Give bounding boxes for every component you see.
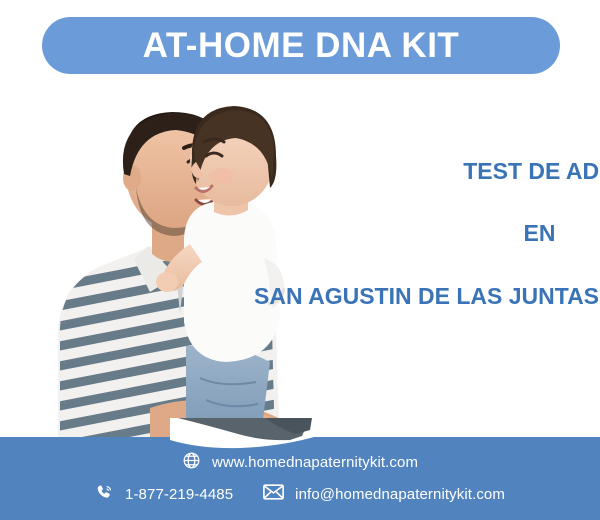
email-contact-item[interactable]: info@homednapaternitykit.com — [263, 484, 505, 505]
website-label: www.homednapaternitykit.com — [212, 454, 418, 471]
phone-contact-item[interactable]: 1-877-219-4485 — [95, 483, 233, 507]
headline-line-1: TEST DE ADN — [435, 158, 600, 184]
globe-icon — [182, 451, 201, 475]
footer-row-website: www.homednapaternitykit.com — [182, 451, 418, 475]
email-label: info@homednapaternitykit.com — [295, 486, 505, 503]
title-banner: AT-HOME DNA KIT — [42, 17, 560, 74]
phone-icon — [95, 483, 114, 507]
footer-bar: www.homednapaternitykit.com 1-877-219-44… — [0, 437, 600, 520]
father-and-child-photo — [0, 78, 330, 450]
envelope-icon — [263, 484, 284, 505]
title-banner-text: AT-HOME DNA KIT — [143, 28, 460, 63]
headline-line-2: EN — [435, 220, 600, 246]
phone-label: 1-877-219-4485 — [125, 486, 233, 503]
website-contact-item[interactable]: www.homednapaternitykit.com — [182, 451, 418, 475]
poster-canvas: AT-HOME DNA KIT — [0, 0, 600, 520]
footer-contact-rows: www.homednapaternitykit.com 1-877-219-44… — [0, 437, 600, 520]
footer-row-phone-email: 1-877-219-4485 info@homednapaternitykit.… — [95, 483, 505, 507]
